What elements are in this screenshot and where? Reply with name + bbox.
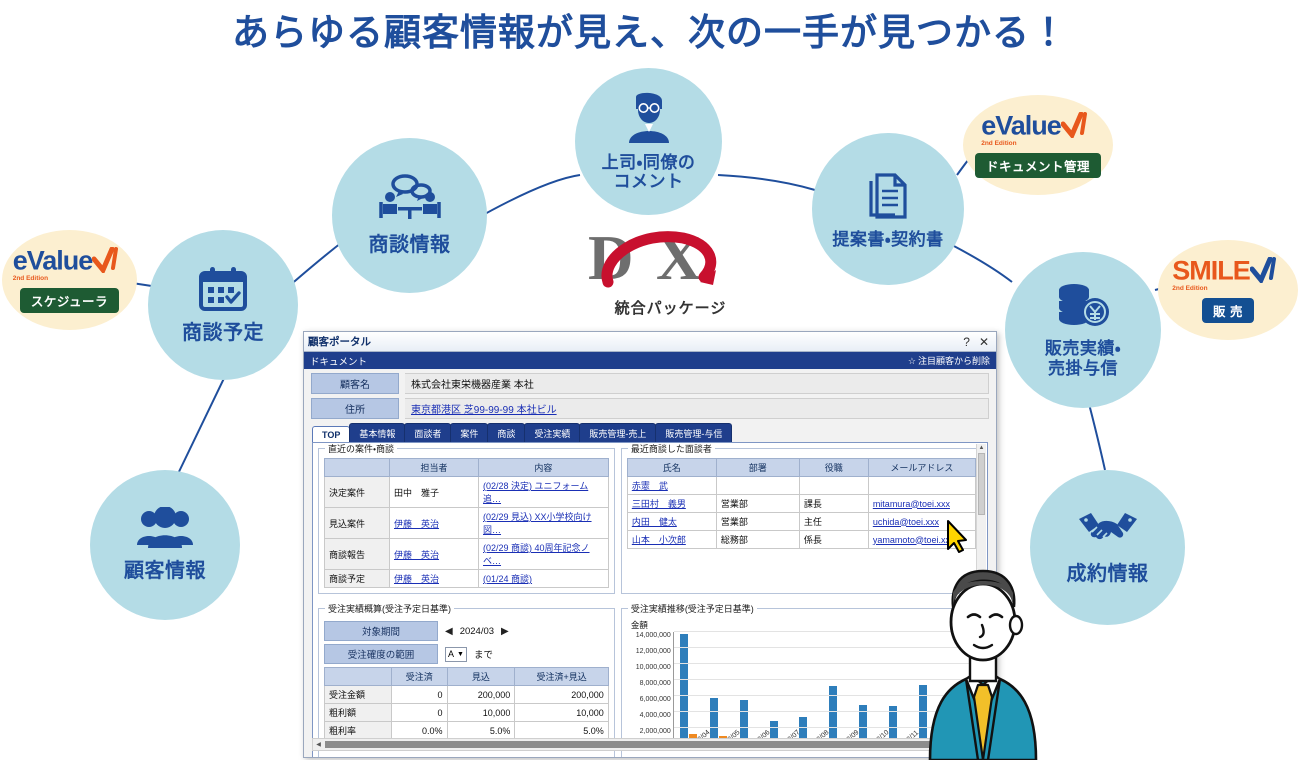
cell-metric: 粗利率 — [325, 722, 392, 740]
cell-expected: 5.0% — [447, 722, 515, 740]
cell-kind: 決定案件 — [325, 477, 390, 508]
cell-expected: 200,000 — [447, 686, 515, 704]
bubble-comment: 上司・同僚の コメント — [575, 68, 722, 215]
tab-bar: TOP 基本情報 面談者 案件 商談 受注実績 販売管理-売上 販売管理-与信 — [312, 425, 996, 442]
col-metric — [325, 668, 392, 686]
deal-link[interactable]: (01/24 商談) — [483, 574, 532, 584]
cell-content[interactable]: (02/29 商談) 40周年記念ノベ… — [479, 539, 609, 570]
cell-person[interactable]: 伊藤 英治 — [390, 508, 479, 539]
cell-expected: 10,000 — [447, 704, 515, 722]
cell-done: 0 — [392, 704, 448, 722]
cell-dept — [716, 477, 799, 495]
badge-pill: ドキュメント管理 — [975, 153, 1101, 178]
col-expected: 見込 — [447, 668, 515, 686]
table-header-row: 担当者 内容 — [325, 459, 609, 477]
dx-mark-icon: D X — [578, 222, 763, 294]
cell-content[interactable]: (02/29 見込) XX小学校向け図… — [479, 508, 609, 539]
badge-brand: SMILE 2nd Edition — [1172, 257, 1284, 293]
cell-title: 主任 — [799, 513, 868, 531]
close-button[interactable]: ✕ — [979, 336, 989, 348]
cell-person: 田中 雅子 — [390, 477, 479, 508]
table-row: 赤憲 武 — [627, 477, 975, 495]
cell-total: 5.0% — [515, 722, 608, 740]
col-dept: 部署 — [716, 459, 799, 477]
period-value: 2024/03 — [460, 626, 494, 637]
next-period-button[interactable]: ▶ — [501, 626, 509, 637]
tab-top[interactable]: TOP — [312, 426, 350, 442]
mail-link[interactable]: uchida@toei.xxx — [873, 517, 939, 527]
cell-metric: 受注金額 — [325, 686, 392, 704]
bubble-label: 提案書・契約書 — [832, 230, 943, 250]
hscroll-thumb[interactable] — [325, 741, 975, 748]
window-horizontal-scrollbar[interactable]: ◀ ▶ — [312, 738, 988, 751]
menu-item-document[interactable]: ドキュメント — [310, 354, 908, 368]
cell-content[interactable]: (02/28 決定) ユニフォーム追… — [479, 477, 609, 508]
recent-deals-table: 担当者 内容 決定案件 田中 雅子 (02/28 決定) ユニフォーム追… — [324, 458, 609, 588]
people-icon — [136, 507, 194, 556]
order-summary-group: 受注実績概算(受注予定日基準) 対象期間 ◀ 2024/03 ▶ 受注確度の範囲… — [318, 608, 615, 758]
page-title: あらゆる顧客情報が見え、次の一手が見つかる！ — [0, 2, 1300, 56]
bubble-label: 商談情報 — [369, 234, 451, 257]
table-row: 粗利額 0 10,000 10,000 — [325, 704, 609, 722]
col-mail: メールアドレス — [868, 459, 975, 477]
person-link[interactable]: 伊藤 英治 — [394, 550, 439, 560]
accuracy-label: 受注確度の範囲 — [324, 644, 438, 664]
cell-person[interactable]: 伊藤 英治 — [390, 570, 479, 588]
bubble-shodan-joho: 商談情報 — [332, 138, 487, 293]
badge-evalue-scheduler: eValue 2nd Edition スケジューラ — [2, 230, 137, 330]
table-row: 内田 健太 営業部 主任 uchida@toei.xxx — [627, 513, 975, 531]
tab-kihonjoho[interactable]: 基本情報 — [349, 423, 405, 442]
cell-kind: 商談予定 — [325, 570, 390, 588]
address-label: 住所 — [311, 398, 399, 419]
accuracy-suffix: まで — [474, 647, 493, 661]
mail-link[interactable]: yamamoto@toei.xxx — [873, 535, 955, 545]
dx-caption: 統合パッケージ — [578, 297, 763, 318]
person-glasses-icon — [624, 91, 674, 148]
table-row: 商談報告 伊藤 英治 (02/29 商談) 40周年記念ノベ… — [325, 539, 609, 570]
deal-link[interactable]: (02/28 決定) ユニフォーム追… — [483, 481, 588, 504]
bubble-kokyaku-joho: 顧客情報 — [90, 470, 240, 620]
col-total: 受注済+見込 — [515, 668, 608, 686]
accuracy-value: A — [448, 649, 454, 659]
badge-brand: eValue 2nd Edition — [981, 112, 1095, 148]
table-row: 商談予定 伊藤 英治 (01/24 商談) — [325, 570, 609, 588]
documents-icon — [863, 169, 913, 226]
cell-name[interactable]: 三田村 義男 — [627, 495, 716, 513]
deal-link[interactable]: (02/29 商談) 40周年記念ノベ… — [483, 543, 590, 566]
scroll-left-icon[interactable]: ◀ — [313, 741, 324, 748]
cell-content[interactable]: (01/24 商談) — [479, 570, 609, 588]
person-link[interactable]: 伊藤 英治 — [394, 519, 439, 529]
table-header-row: 受注済 見込 受注済+見込 — [325, 668, 609, 686]
contact-link[interactable]: 山本 小次郎 — [632, 535, 686, 545]
tab-hanbai-uriage[interactable]: 販売管理-売上 — [579, 423, 656, 442]
col-kind — [325, 459, 390, 477]
period-row: 対象期間 ◀ 2024/03 ▶ — [324, 621, 609, 641]
cell-total: 10,000 — [515, 704, 608, 722]
prev-period-button[interactable]: ◀ — [445, 626, 453, 637]
remove-favorite-button[interactable]: ☆注目顧客から削除 — [908, 354, 990, 367]
coins-yen-icon — [1054, 282, 1112, 335]
tab-anken[interactable]: 案件 — [450, 423, 488, 442]
cell-kind: 見込案件 — [325, 508, 390, 539]
badge-pill: スケジューラ — [20, 288, 119, 313]
contact-link[interactable]: 内田 健太 — [632, 517, 677, 527]
tab-jucyu-jisseki[interactable]: 受注実績 — [524, 423, 580, 442]
address-row: 住所 東京都港区 芝99-99-99 本社ビル — [311, 398, 989, 419]
table-header-row: 氏名 部署 役職 メールアドレス — [627, 459, 975, 477]
tab-panel-top: 直近の案件・商談 担当者 内容 決定案件 田中 — [312, 442, 988, 758]
mail-link[interactable]: mitamura@toei.xxx — [873, 499, 950, 509]
star-icon: ☆ — [908, 356, 916, 366]
col-done: 受注済 — [392, 668, 448, 686]
table-row: 粗利率 0.0% 5.0% 5.0% — [325, 722, 609, 740]
bubble-label: 販売実績・ 売掛与信 — [1045, 339, 1121, 378]
bubble-label: 成約情報 — [1067, 563, 1149, 586]
address-value-link[interactable]: 東京都港区 芝99-99-99 本社ビル — [405, 398, 989, 419]
table-row: 三田村 義男 営業部 課長 mitamura@toei.xxx — [627, 495, 975, 513]
cell-done: 0 — [392, 686, 448, 704]
tab-shodan[interactable]: 商談 — [487, 423, 525, 442]
cell-person[interactable]: 伊藤 英治 — [390, 539, 479, 570]
recent-deals-caption: 直近の案件・商談 — [325, 442, 397, 455]
window-menu-bar: ドキュメント ☆注目顧客から削除 — [304, 352, 996, 369]
cell-mail[interactable]: mitamura@toei.xxx — [868, 495, 975, 513]
col-title: 役職 — [799, 459, 868, 477]
check-mark-icon — [1061, 112, 1095, 138]
handshake-icon — [1077, 509, 1139, 558]
customer-name-row: 顧客名 株式会社東栄機器産業 本社 — [311, 373, 989, 394]
bubble-hanbai-jisseki: 販売実績・ 売掛与信 — [1005, 252, 1161, 408]
person-link[interactable]: 伊藤 英治 — [394, 574, 439, 584]
cell-name[interactable]: 内田 健太 — [627, 513, 716, 531]
meeting-icon — [379, 174, 441, 229]
contact-link[interactable]: 三田村 義男 — [632, 499, 686, 509]
cell-done: 0.0% — [392, 722, 448, 740]
period-label: 対象期間 — [324, 621, 438, 641]
dx-logo: D X 統合パッケージ — [578, 222, 763, 318]
bubble-label: 上司・同僚の コメント — [602, 153, 696, 192]
chart-caption: 受注実績推移(受注予定日基準) — [628, 602, 757, 615]
scroll-up-icon[interactable]: ▲ — [977, 444, 986, 452]
window-title: 顧客ポータル — [308, 334, 963, 349]
vscroll-thumb[interactable] — [978, 453, 985, 515]
cell-kind: 商談報告 — [325, 539, 390, 570]
order-summary-table: 受注済 見込 受注済+見込 受注金額 0 200,000 200,000 — [324, 667, 609, 740]
bubble-label-line2: コメント — [614, 172, 684, 191]
window-title-bar: 顧客ポータル ? ✕ — [304, 332, 996, 352]
cell-name[interactable]: 山本 小次郎 — [627, 531, 716, 549]
cell-mail — [868, 477, 975, 495]
accuracy-row: 受注確度の範囲 A ▼ まで — [324, 644, 609, 664]
top-groups-row: 直近の案件・商談 担当者 内容 決定案件 田中 — [313, 443, 987, 594]
cell-dept: 営業部 — [716, 513, 799, 531]
bubble-label-line2: 売掛与信 — [1048, 359, 1118, 378]
contact-link[interactable]: 赤憲 武 — [632, 481, 668, 491]
cell-name[interactable]: 赤憲 武 — [627, 477, 716, 495]
cell-title: 課長 — [799, 495, 868, 513]
bubble-label: 顧客情報 — [124, 560, 206, 583]
bubble-shodan-yotei: 商談予定 — [148, 230, 298, 380]
check-mark-icon — [1250, 257, 1284, 283]
badge-brand: eValue 2nd Edition — [13, 247, 127, 283]
help-button[interactable]: ? — [963, 336, 970, 348]
order-summary-caption: 受注実績概算(受注予定日基準) — [325, 602, 454, 615]
chevron-down-icon: ▼ — [457, 651, 464, 658]
remove-favorite-label: 注目顧客から削除 — [918, 356, 990, 366]
bottom-groups-row: 受注実績概算(受注予定日基準) 対象期間 ◀ 2024/03 ▶ 受注確度の範囲… — [313, 594, 987, 758]
cell-dept: 総務部 — [716, 531, 799, 549]
table-row: 決定案件 田中 雅子 (02/28 決定) ユニフォーム追… — [325, 477, 609, 508]
deal-link[interactable]: (02/29 見込) XX小学校向け図… — [483, 512, 592, 535]
col-name: 氏名 — [627, 459, 716, 477]
customer-name-label: 顧客名 — [311, 373, 399, 394]
badge-evalue-document: eValue 2nd Edition ドキュメント管理 — [963, 95, 1113, 195]
tab-hanbai-yoshin[interactable]: 販売管理-与信 — [655, 423, 732, 442]
badge-pill: 販 売 — [1202, 298, 1254, 323]
table-row: 見込案件 伊藤 英治 (02/29 見込) XX小学校向け図… — [325, 508, 609, 539]
accuracy-select[interactable]: A ▼ — [445, 647, 467, 662]
col-person: 担当者 — [390, 459, 479, 477]
cell-dept: 営業部 — [716, 495, 799, 513]
cell-title — [799, 477, 868, 495]
bubble-teiansho: 提案書・契約書 — [812, 133, 964, 285]
recent-contacts-table: 氏名 部署 役職 メールアドレス 赤憲 武 — [627, 458, 976, 549]
bubble-label-line1: 販売実績・ — [1045, 339, 1121, 358]
salesman-illustration — [900, 545, 1065, 760]
bubble-label-line1: 上司・同僚の — [602, 153, 696, 172]
cell-title: 係長 — [799, 531, 868, 549]
cell-total: 200,000 — [515, 686, 608, 704]
cell-metric: 粗利額 — [325, 704, 392, 722]
check-mark-icon — [92, 247, 126, 273]
poster-stage: あらゆる顧客情報が見え、次の一手が見つかる！ eValue 2nd Editio… — [0, 0, 1300, 760]
customer-name-value: 株式会社東栄機器産業 本社 — [405, 373, 989, 394]
recent-deals-group: 直近の案件・商談 担当者 内容 決定案件 田中 — [318, 448, 615, 594]
tab-mendansha[interactable]: 面談者 — [404, 423, 451, 442]
customer-portal-window: 顧客ポータル ? ✕ ドキュメント ☆注目顧客から削除 顧客名 株式会社東栄機器… — [303, 331, 997, 758]
col-content: 内容 — [479, 459, 609, 477]
bubble-label: 商談予定 — [182, 322, 264, 345]
badge-smile-sales: SMILE 2nd Edition 販 売 — [1158, 240, 1298, 340]
recent-contacts-caption: 最近商談した面談者 — [628, 442, 715, 455]
table-row: 受注金額 0 200,000 200,000 — [325, 686, 609, 704]
calendar-icon — [197, 265, 249, 318]
